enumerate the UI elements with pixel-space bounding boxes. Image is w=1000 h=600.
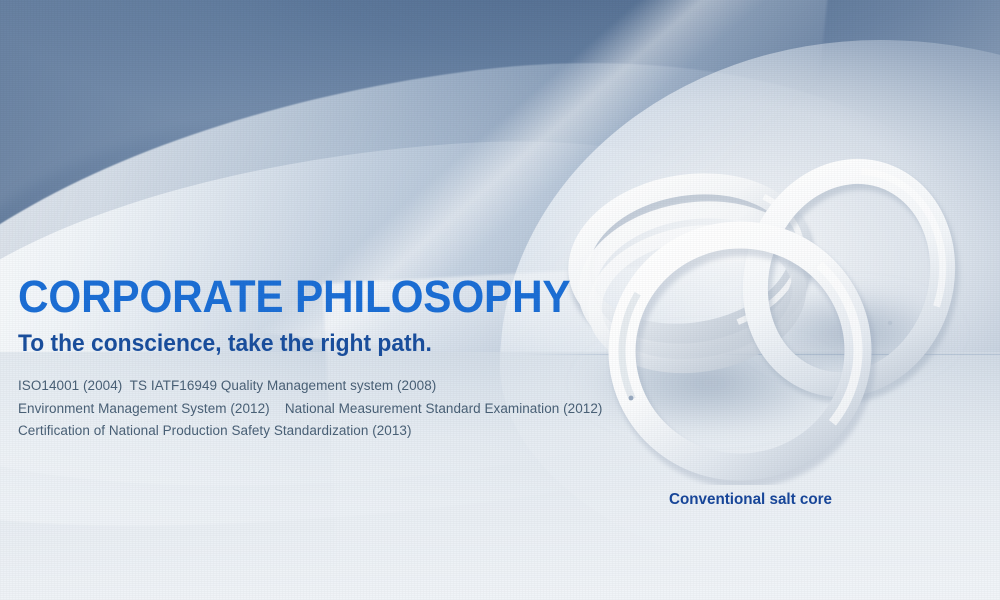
philosophy-text-block: CORPORATE PHILOSOPHY To the conscience, … — [18, 272, 638, 443]
corporate-philosophy-banner: CORPORATE PHILOSOPHY To the conscience, … — [0, 0, 1000, 600]
page-title: CORPORATE PHILOSOPHY — [18, 272, 601, 322]
certification-line-3: Certification of National Production Saf… — [18, 420, 638, 443]
page-subtitle: To the conscience, take the right path. — [18, 330, 607, 358]
certification-line-2: Environment Management System (2012) Nat… — [18, 398, 638, 421]
certification-list: ISO14001 (2004) TS IATF16949 Quality Man… — [18, 375, 638, 443]
certification-line-1: ISO14001 (2004) TS IATF16949 Quality Man… — [18, 375, 638, 398]
product-caption: Conventional salt core — [669, 491, 832, 509]
